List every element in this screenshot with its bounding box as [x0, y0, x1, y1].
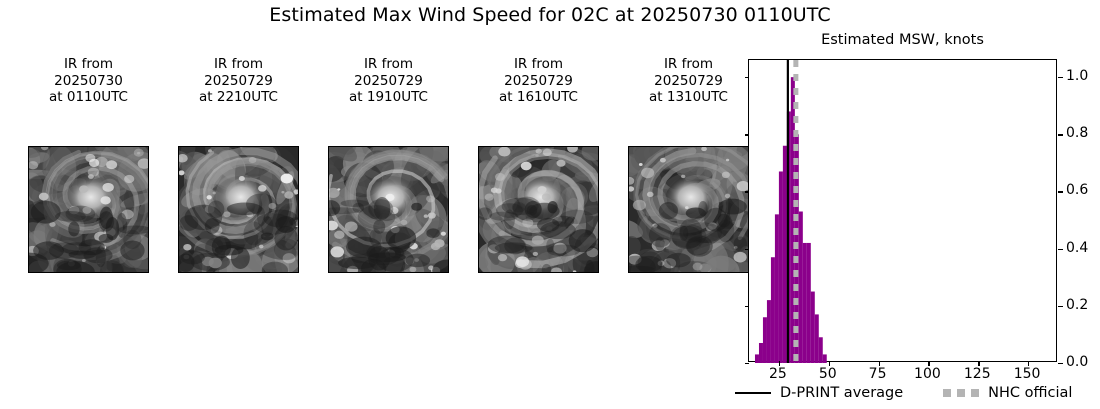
histogram-bar: [811, 292, 815, 363]
satellite-ir-image: [178, 146, 299, 273]
histogram-bar: [775, 214, 779, 363]
y-axis-tick-right: [1058, 306, 1063, 307]
histogram-bar: [755, 354, 759, 363]
satellite-panel-caption: IR from 20250729 at 2210UTC: [172, 56, 305, 106]
satellite-ir-image: [478, 146, 599, 273]
satellite-panel-caption: IR from 20250729 at 1310UTC: [622, 56, 755, 106]
histogram-bar: [779, 171, 783, 363]
histogram-bar: [803, 243, 807, 363]
chart-legend: D-PRINT average NHC official: [735, 381, 1085, 405]
y-axis-tick-label: 0.8: [1066, 125, 1088, 141]
satellite-ir-image: [328, 146, 449, 273]
y-axis-tick-left: [745, 249, 750, 250]
x-axis-tick-label: 100: [914, 366, 941, 382]
y-axis-tick-label: 0.4: [1066, 240, 1088, 256]
y-axis-tick-right: [1058, 363, 1063, 364]
histogram-bar: [783, 146, 787, 363]
y-axis-tick-label: 0.2: [1066, 297, 1088, 313]
satellite-panel: IR from 20250730 at 0110UTC: [22, 56, 155, 106]
histogram-bar: [759, 343, 763, 363]
y-axis-tick-right: [1058, 77, 1063, 78]
satellite-panel: IR from 20250729 at 1310UTC: [622, 56, 755, 106]
histogram-bar: [807, 243, 811, 363]
histogram-plot-area: [749, 60, 1058, 363]
histogram-bar: [799, 212, 803, 364]
x-axis-tick-label: 150: [1014, 366, 1041, 382]
x-axis-tick-label: 50: [819, 366, 837, 382]
y-axis-tick-left: [745, 134, 750, 135]
y-axis-tick-left: [745, 77, 750, 78]
x-axis-tick-label: 25: [769, 366, 787, 382]
x-axis-tick-label: 125: [964, 366, 991, 382]
x-axis-tick-label: 75: [869, 366, 887, 382]
satellite-panel: IR from 20250729 at 1910UTC: [322, 56, 455, 106]
y-axis-tick-label: 0.0: [1066, 354, 1088, 370]
dotted-line-swatch-icon: [943, 389, 979, 397]
legend-label-dprint: D-PRINT average: [780, 385, 903, 401]
y-axis-tick-left: [745, 191, 750, 192]
satellite-panel: IR from 20250729 at 2210UTC: [172, 56, 305, 106]
histogram-bar: [815, 314, 819, 363]
satellite-panel-strip: IR from 20250730 at 0110UTCIR from 20250…: [22, 56, 738, 276]
satellite-ir-image: [28, 146, 149, 273]
y-axis-tick-label: 0.6: [1066, 182, 1088, 198]
x-axis-tick: [978, 361, 979, 366]
histogram-bar: [823, 354, 827, 363]
satellite-panel-caption: IR from 20250729 at 1910UTC: [322, 56, 455, 106]
solid-line-swatch-icon: [735, 392, 771, 394]
x-axis-tick: [829, 361, 830, 366]
histogram-bar: [763, 317, 767, 363]
satellite-ir-image: [628, 146, 749, 273]
legend-label-nhc: NHC official: [988, 385, 1072, 401]
y-axis-tick-right: [1058, 134, 1063, 135]
x-axis-tick: [928, 361, 929, 366]
chart-axes: [748, 59, 1057, 362]
histogram-bar: [767, 300, 771, 363]
y-axis-tick-left: [745, 363, 750, 364]
legend-entry-nhc: NHC official: [943, 385, 1072, 401]
satellite-panel-caption: IR from 20250729 at 1610UTC: [472, 56, 605, 106]
histogram-bar: [771, 257, 775, 363]
satellite-panel: IR from 20250729 at 1610UTC: [472, 56, 605, 106]
histogram-block: Estimated MSW, knots Relative Prob 25507…: [748, 59, 1057, 362]
legend-entry-dprint: D-PRINT average: [735, 385, 903, 401]
x-axis-tick: [779, 361, 780, 366]
y-axis-tick-right: [1058, 191, 1063, 192]
histogram-bar: [819, 337, 823, 363]
x-axis-tick: [879, 361, 880, 366]
y-axis-tick-right: [1058, 249, 1063, 250]
chart-title: Estimated MSW, knots: [748, 32, 1057, 48]
y-axis-tick-left: [745, 306, 750, 307]
page-title: Estimated Max Wind Speed for 02C at 2025…: [0, 4, 1100, 26]
y-axis-tick-label: 1.0: [1066, 68, 1088, 84]
satellite-panel-caption: IR from 20250730 at 0110UTC: [22, 56, 155, 106]
x-axis-tick: [1028, 361, 1029, 366]
